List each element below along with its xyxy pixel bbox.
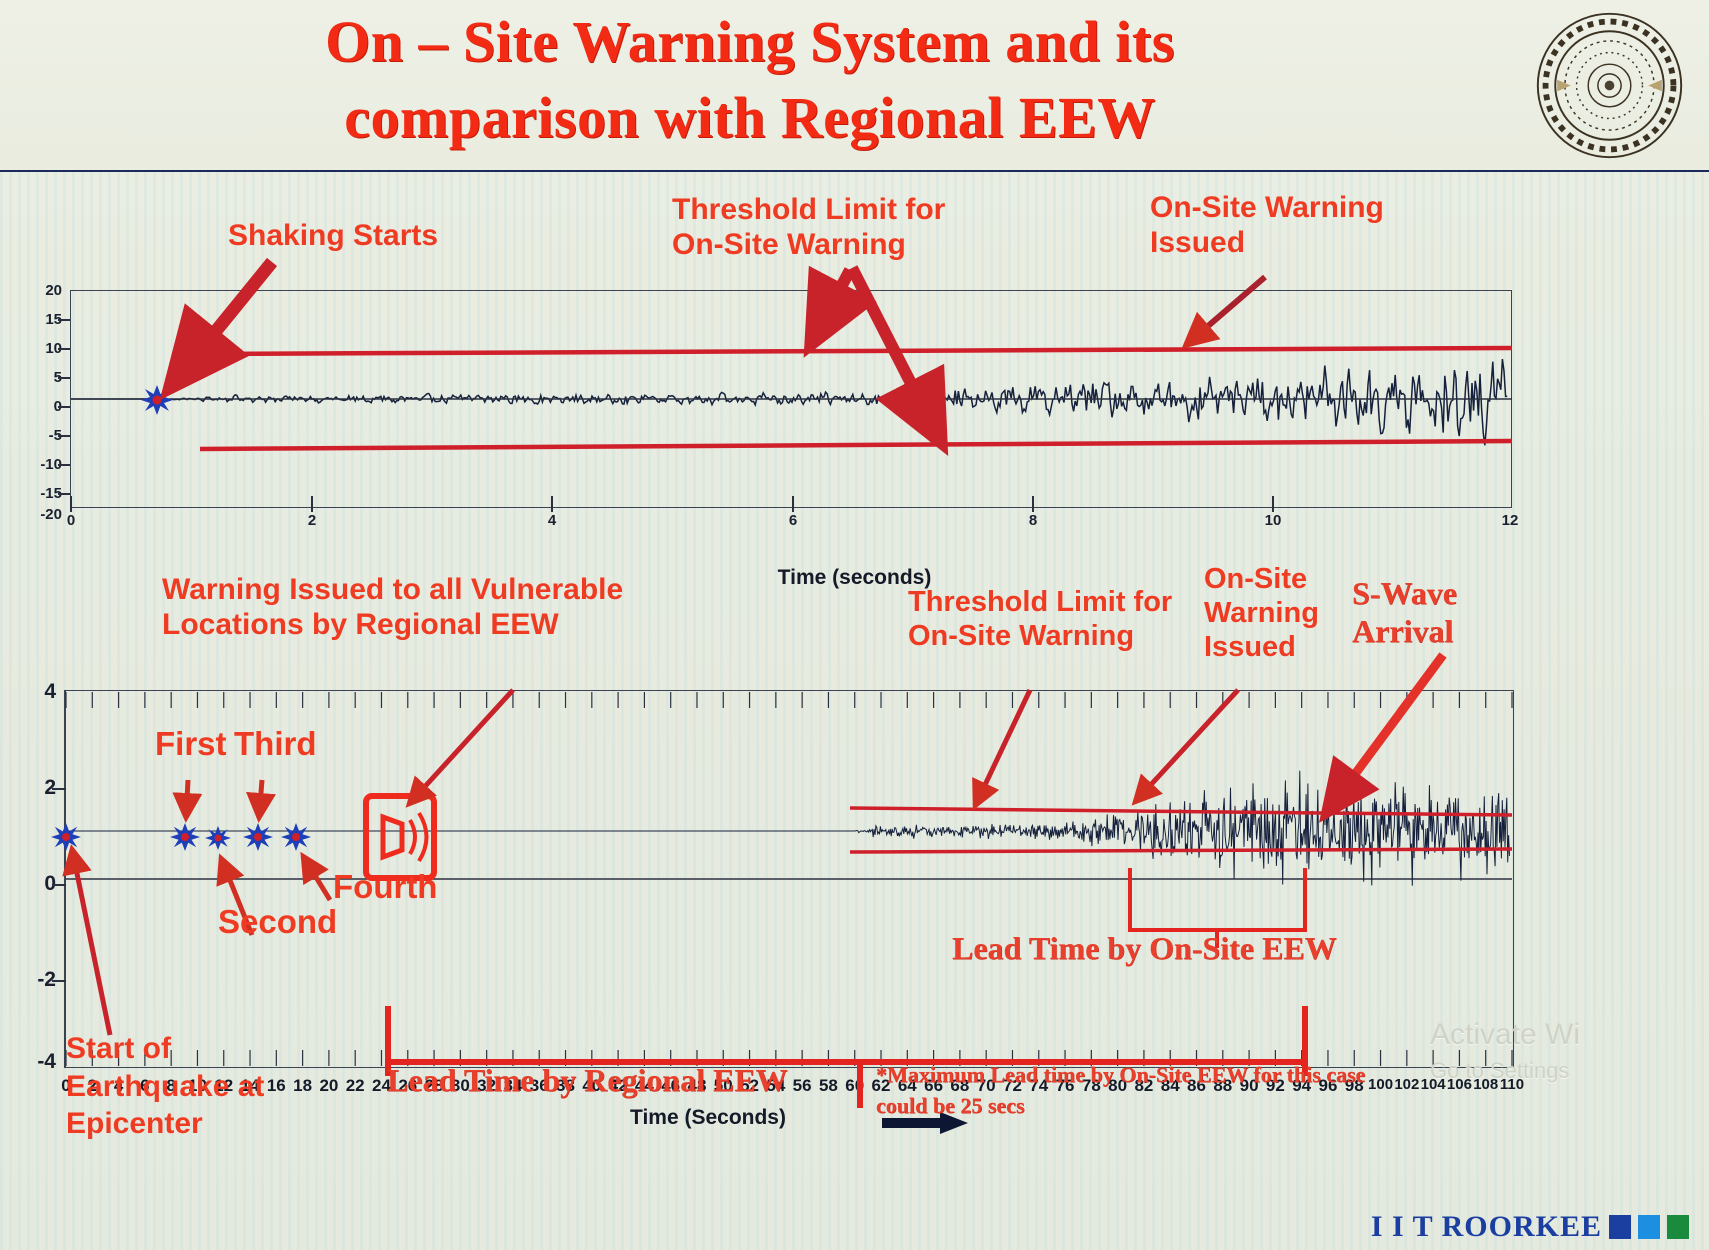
brand-square-light-blue [1638,1215,1660,1239]
annotation-onsite-warning-issued-chart1: On-Site Warning Issued [1150,190,1384,261]
annotation-s-wave-arrival: S-Wave Arrival [1352,575,1457,651]
annotation-third: Third [234,725,316,764]
chart2-xtick-label: 56 [793,1076,812,1096]
annotation-second: Second [218,903,337,942]
chart1-x-axis: 0 2 4 6 8 10 12 [0,512,1709,538]
chart1-xtick-mark [792,496,794,512]
windows-activation-watermark-line1: Activate Wi [1430,1018,1580,1052]
chart2-xtick-label: 20 [319,1076,338,1096]
chart1-xtick-mark [551,496,553,512]
slide-header: On – Site Warning System and its compari… [0,0,1709,172]
chart1-xtick-mark [70,496,72,512]
chart-onsite-record [70,290,1512,508]
annotation-fourth: Fourth [333,868,437,907]
chart2-ytick-label: 4 [44,680,56,704]
annotation-lead-time-onsite: Lead Time by On-Site EEW [952,930,1337,968]
annotation-first: First [155,725,227,764]
chart2-xtick-label: 100 [1368,1076,1393,1093]
chart2-y-axis: 4 2 0 -2 -4 [0,678,62,1078]
brand-square-dark-blue [1609,1215,1631,1239]
chart1-xtick-label: 4 [548,512,556,529]
chart2-xtick-label: 16 [267,1076,286,1096]
chart1-xtick-label: 2 [308,512,316,529]
chart2-xtick-label: 18 [293,1076,312,1096]
brand-square-green [1667,1215,1689,1239]
brand-footer-label: I I T ROORKEE [1371,1210,1602,1244]
chart1-ytick-mark [58,493,70,495]
annotation-threshold-limit-chart1: Threshold Limit for On-Site Warning [672,192,945,263]
chart2-ytick-mark [52,884,66,886]
annotation-start-of-earthquake: Start of Earthquake at Epicenter [66,1030,264,1143]
chart1-xtick-mark [311,496,313,512]
chart1-ytick-mark [58,464,70,466]
chart2-ytick-mark [52,980,66,982]
annotation-threshold-limit-chart2: Threshold Limit for On-Site Warning [908,585,1172,653]
chart1-xtick-mark [1032,496,1034,512]
chart2-xtick-label: 22 [346,1076,365,1096]
annotation-lead-time-regional: Lead Time by Regional EEW [387,1062,788,1100]
annotation-footnote: *Maximum Lead time by On-Site EEW for th… [876,1060,1365,1122]
slide-root: On – Site Warning System and its compari… [0,0,1709,1250]
chart1-ytick-mark [58,406,70,408]
chart1-xtick-label: 8 [1029,512,1037,529]
windows-activation-watermark-line2: Go to Settings [1430,1058,1569,1084]
chart1-xtick-label: 10 [1265,512,1282,529]
chart1-xtick-label: 12 [1502,512,1519,529]
chart1-xtick-label: 0 [67,512,75,529]
chart1-xtick-mark [1272,496,1274,512]
chart2-x-axis-title: Time (Seconds) [630,1106,786,1130]
page-title-line1: On – Site Warning System and its [150,4,1350,80]
chart1-ytick-mark [58,348,70,350]
annotation-shaking-starts: Shaking Starts [228,218,438,253]
chart1-xtick-label: 6 [789,512,797,529]
page-title: On – Site Warning System and its compari… [150,4,1350,156]
chart1-ytick-mark [58,319,70,321]
chart2-xtick-label: 102 [1394,1076,1419,1093]
chart2-xtick-label: 58 [819,1076,838,1096]
chart2-ytick-label: -4 [37,1050,56,1074]
chart1-ytick-mark [58,377,70,379]
page-title-line2: comparison with Regional EEW [150,80,1350,156]
annotation-regional-warning: Warning Issued to all Vulnerable Locatio… [162,572,623,643]
brand-footer: I I T ROORKEE [1371,1210,1689,1244]
chart1-y-axis: 20 15 10 5 0 -5 -10 -15 -20 [0,282,66,518]
iit-roorkee-emblem-icon [1532,8,1687,163]
chart1-ytick-label: 20 [45,282,62,299]
chart2-ytick-mark [52,788,66,790]
chart2-xtick-label: 60 [845,1076,864,1096]
chart1-ytick-mark [58,435,70,437]
annotation-onsite-warning-issued-chart2: On-Site Warning Issued [1204,562,1319,665]
header-rule [0,170,1709,172]
